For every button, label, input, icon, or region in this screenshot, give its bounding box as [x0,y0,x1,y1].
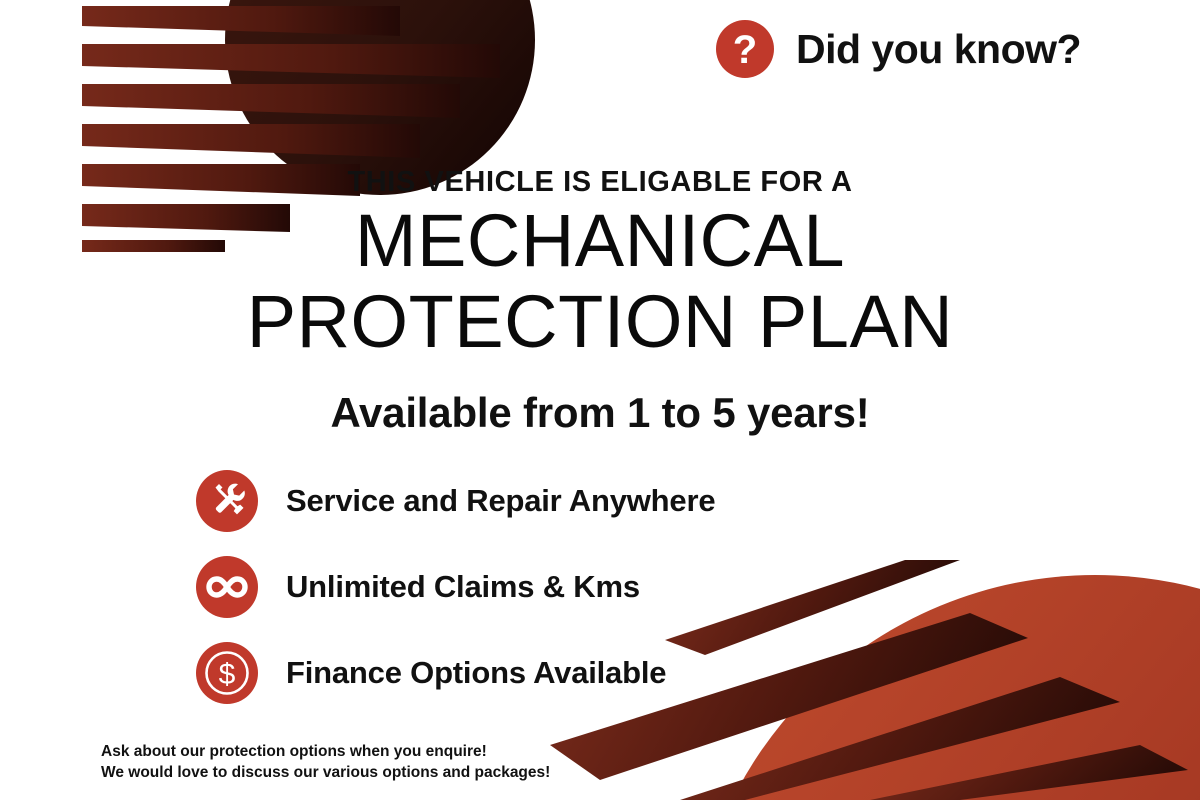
did-you-know-banner: ? Did you know? [716,20,1081,78]
feature-label-service-repair: Service and Repair Anywhere [286,483,715,519]
streak-4 [82,84,460,118]
streak-1 [82,6,400,36]
svg-text:$: $ [219,658,236,691]
question-mark-icon: ? [716,20,774,78]
feature-item-service-repair: Service and Repair Anywhere [196,468,956,534]
footer-line-2: We would love to discuss our various opt… [101,763,550,784]
streak-5 [82,124,420,158]
feature-label-unlimited-claims: Unlimited Claims & Kms [286,569,640,605]
tools-wrench-screwdriver-icon [196,470,258,532]
infinity-icon [196,556,258,618]
feature-item-unlimited-claims: Unlimited Claims & Kms [196,554,956,620]
did-you-know-label: Did you know? [796,29,1081,70]
promo-poster: ? Did you know? THIS VEHICLE IS ELIGABLE… [0,0,1200,800]
subheadline-text: Available from 1 to 5 years! [0,392,1200,434]
eyebrow-text: THIS VEHICLE IS ELIGABLE FOR A [0,168,1200,197]
dollar-coin-icon: $ [196,642,258,704]
feature-list: Service and Repair Anywhere Unlimited Cl… [196,468,956,726]
feature-item-finance-options: $ Finance Options Available [196,640,956,706]
headline-line-2: PROTECTION PLAN [0,286,1200,359]
headline-block: THIS VEHICLE IS ELIGABLE FOR A MECHANICA… [0,168,1200,434]
svg-text:?: ? [733,28,757,72]
headline-line-1: MECHANICAL [0,205,1200,278]
streak-d4 [870,745,1188,800]
footer-note: Ask about our protection options when yo… [101,742,550,784]
streak-3 [82,44,500,78]
footer-line-1: Ask about our protection options when yo… [101,742,550,763]
feature-label-finance-options: Finance Options Available [286,655,666,691]
